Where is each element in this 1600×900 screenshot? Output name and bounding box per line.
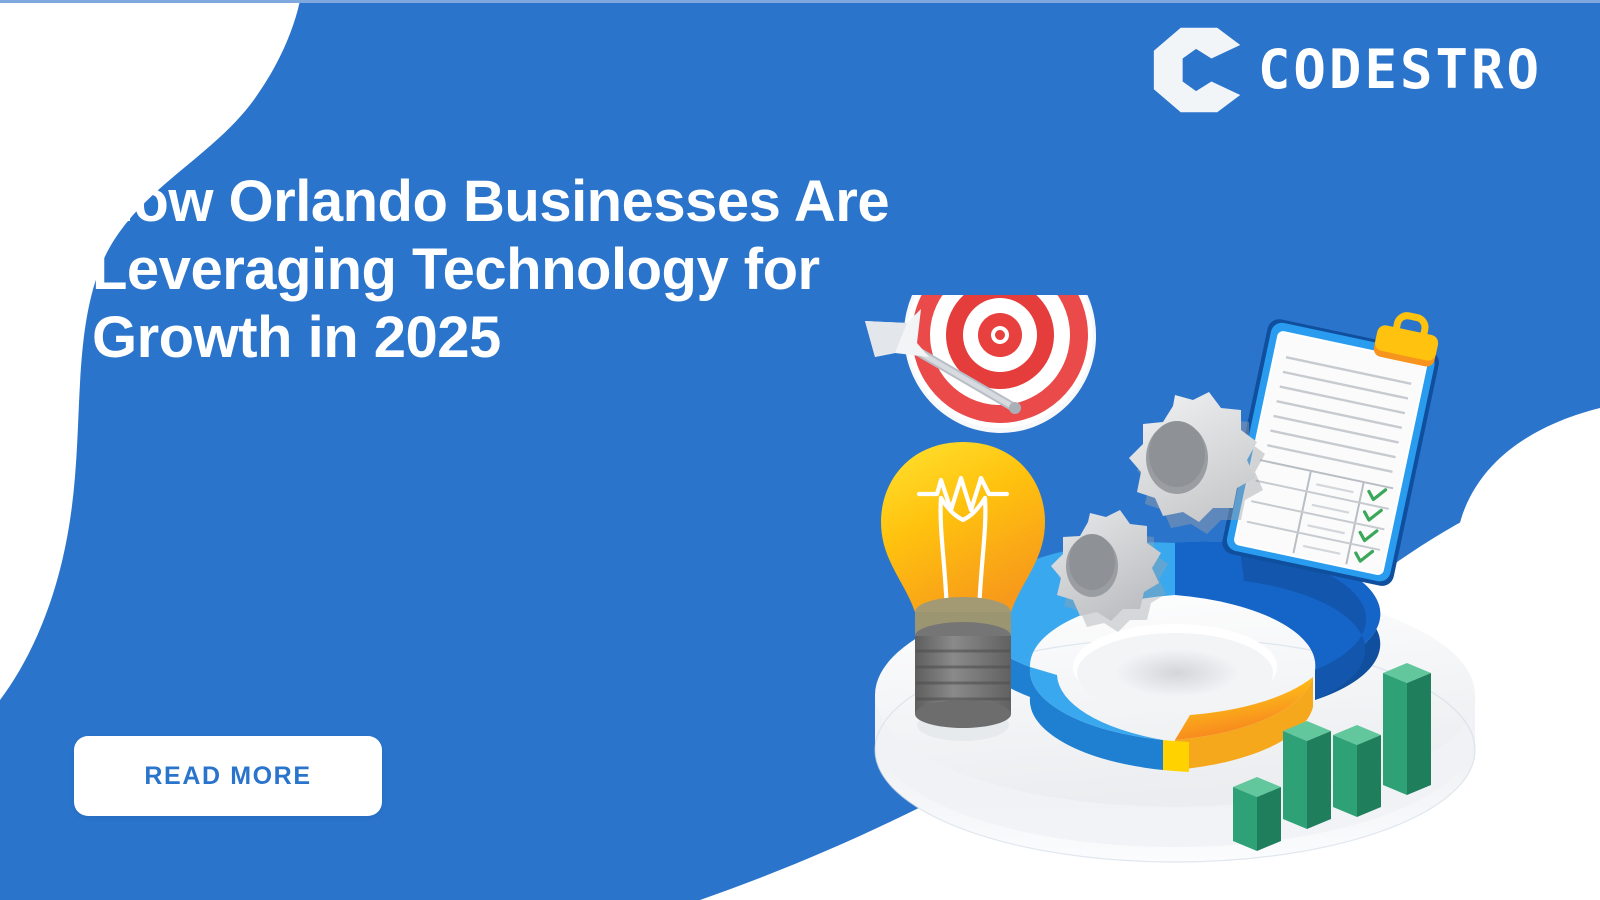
brand-logo[interactable]: CODESTRO	[1150, 22, 1542, 118]
read-more-button[interactable]: READ MORE	[74, 736, 382, 816]
bar-4	[1383, 663, 1431, 795]
bar-1	[1233, 777, 1281, 851]
hexagon-c-logo-icon	[1150, 22, 1246, 118]
bar-2	[1283, 721, 1331, 829]
brand-name: CODESTRO	[1258, 43, 1542, 97]
promo-banner: CODESTRO How Orlando Businesses Are Leve…	[0, 0, 1600, 900]
illustration-isometric-business-technology	[845, 295, 1485, 885]
top-rule-divider	[0, 0, 1600, 3]
bar-3	[1333, 725, 1381, 817]
page-title: How Orlando Businesses Are Leveraging Te…	[92, 168, 1092, 372]
